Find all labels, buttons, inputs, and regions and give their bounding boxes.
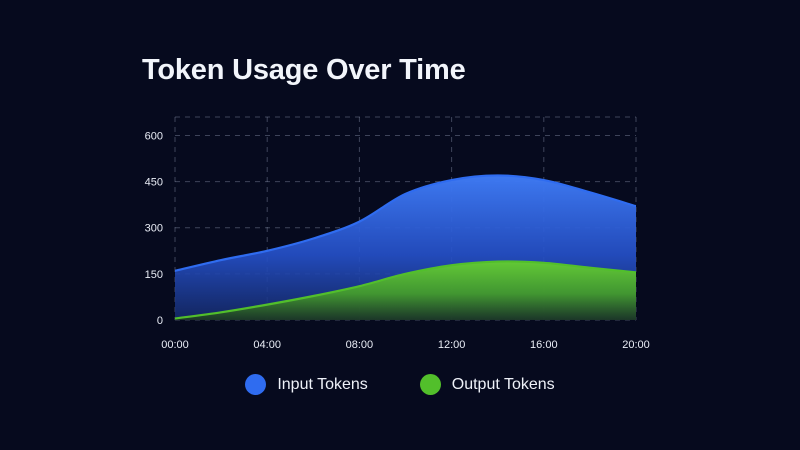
- chart-card: Token Usage Over Time 0150300450600 00:0…: [0, 0, 800, 450]
- x-tick-label: 04:00: [253, 339, 281, 351]
- x-tick-label: 20:00: [622, 339, 650, 351]
- x-axis-tick-labels: 00:0004:0008:0012:0016:0020:00: [161, 339, 650, 351]
- y-tick-label: 600: [145, 130, 163, 142]
- legend-swatch-icon: [420, 374, 441, 395]
- legend-label: Input Tokens: [277, 376, 367, 394]
- legend-label: Output Tokens: [452, 376, 555, 394]
- y-tick-label: 0: [157, 315, 163, 327]
- y-tick-label: 150: [145, 269, 163, 281]
- legend-swatch-icon: [245, 374, 266, 395]
- chart-legend: Input Tokens Output Tokens: [0, 374, 800, 395]
- legend-item-input-tokens[interactable]: Input Tokens: [245, 374, 367, 395]
- x-tick-label: 00:00: [161, 339, 189, 351]
- x-tick-label: 16:00: [530, 339, 558, 351]
- legend-item-output-tokens[interactable]: Output Tokens: [420, 374, 555, 395]
- y-tick-label: 450: [145, 177, 163, 189]
- y-tick-label: 300: [145, 223, 163, 235]
- y-axis-tick-labels: 0150300450600: [145, 130, 163, 327]
- x-tick-label: 12:00: [438, 339, 466, 351]
- x-tick-label: 08:00: [346, 339, 374, 351]
- chart-areas: [175, 175, 636, 320]
